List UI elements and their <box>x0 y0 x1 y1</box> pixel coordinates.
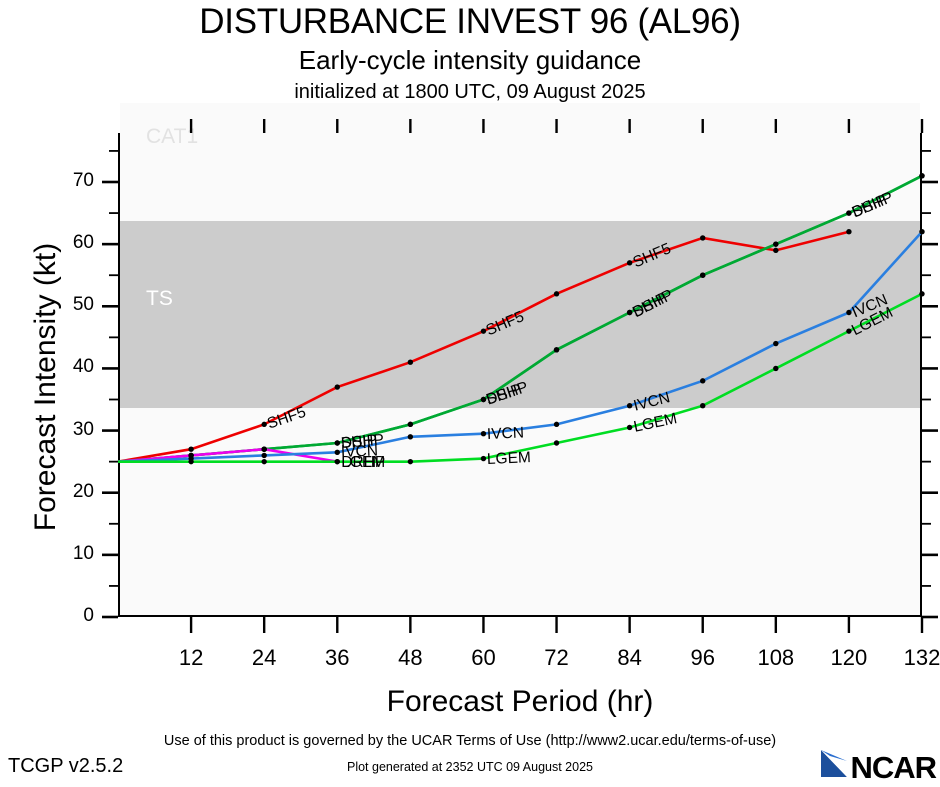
ncar-logo: NCAR <box>819 748 936 787</box>
ncar-triangle-svg <box>819 748 849 779</box>
x-tick-label: 48 <box>375 645 445 671</box>
y-axis-title: Forecast Intensity (kt) <box>29 177 63 597</box>
x-axis-title: Forecast Period (hr) <box>118 685 922 719</box>
version-text: TCGP v2.5.2 <box>8 755 123 778</box>
x-tick-label: 72 <box>522 645 592 671</box>
x-tick-label: 36 <box>302 645 372 671</box>
band-label-cat1: CAT1 <box>146 125 198 149</box>
page-title: DISTURBANCE INVEST 96 (AL96) <box>0 2 940 42</box>
series-label-lgem: LGEM <box>341 454 385 472</box>
band-cat1 <box>120 103 920 221</box>
series-label-ivcn: IVCN <box>487 424 525 444</box>
x-tick-label: 84 <box>595 645 665 671</box>
x-tick-label: 132 <box>887 645 940 671</box>
ncar-wordmark: NCAR <box>850 750 936 786</box>
chart-page: DISTURBANCE INVEST 96 (AL96) Early-cycle… <box>0 0 940 780</box>
page-subtitle: Early-cycle intensity guidance <box>0 45 940 75</box>
plot-generated-text: Plot generated at 2352 UTC 09 August 202… <box>0 760 940 774</box>
x-tick-label: 60 <box>448 645 518 671</box>
series-label-lgem: LGEM <box>487 449 532 469</box>
x-tick-label: 108 <box>741 645 811 671</box>
initialization-time: initialized at 1800 UTC, 09 August 2025 <box>0 80 940 104</box>
x-tick-label: 96 <box>668 645 738 671</box>
y-tick-label: 0 <box>48 605 94 627</box>
terms-of-use-text[interactable]: Use of this product is governed by the U… <box>0 733 940 749</box>
x-tick-label: 24 <box>229 645 299 671</box>
x-tick-label: 120 <box>814 645 884 671</box>
band-label-ts: TS <box>146 287 173 311</box>
ncar-triangle-icon <box>819 748 849 787</box>
plot-area: TSCAT1 <box>118 133 922 617</box>
x-tick-label: 12 <box>156 645 226 671</box>
